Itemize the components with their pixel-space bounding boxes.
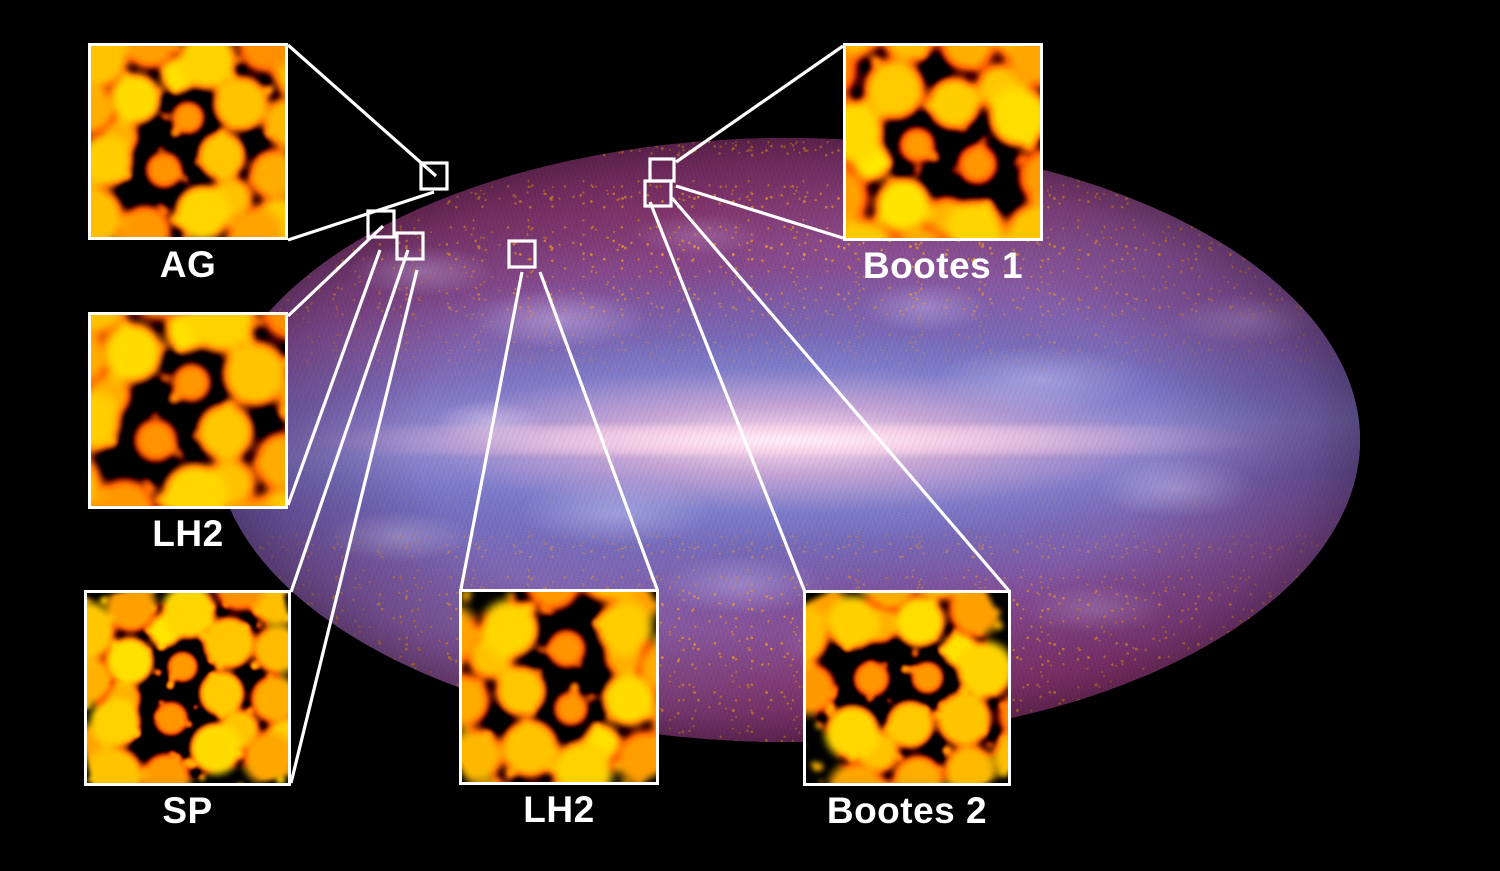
- figure-root: AG LH2 SP LH2 Bootes 1 Bootes 2: [0, 0, 1500, 871]
- inset-frame-lh2-left: [88, 312, 288, 509]
- inset-frame-sp: [84, 590, 291, 786]
- cmb-patch-bootes2: [803, 590, 1011, 786]
- inset-frame-ag: [88, 43, 288, 240]
- cmb-patch-lh2-mid: [459, 589, 659, 785]
- cmb-fine-sp: [84, 590, 291, 786]
- all-sky-map: [215, 138, 1360, 742]
- cmb-fine-lh2-left: [88, 312, 288, 509]
- cmb-fine-lh2-mid: [459, 589, 659, 785]
- inset-label-ag: AG: [88, 246, 288, 285]
- cmb-fine-bootes1: [843, 43, 1043, 241]
- cmb-patch-ag: [91, 46, 285, 237]
- inset-ag[interactable]: AG: [88, 43, 288, 285]
- inset-lh2-left[interactable]: LH2: [88, 312, 288, 554]
- inset-label-bootes1: Bootes 1: [843, 247, 1043, 286]
- inset-label-lh2-left: LH2: [88, 515, 288, 554]
- sky-limb-shading: [215, 138, 1360, 742]
- inset-lh2-mid[interactable]: LH2: [459, 589, 659, 830]
- cmb-patch-bootes1: [843, 43, 1043, 241]
- cmb-patch-lh2-left: [88, 312, 288, 509]
- inset-label-sp: SP: [84, 792, 291, 831]
- inset-label-lh2-mid: LH2: [459, 791, 659, 830]
- inset-frame-bootes2: [803, 590, 1011, 786]
- inset-sp[interactable]: SP: [84, 590, 291, 831]
- cmb-fine-ag: [88, 43, 288, 240]
- inset-frame-lh2-mid: [459, 589, 659, 785]
- inset-frame-bootes1: [843, 43, 1043, 241]
- cmb-fine-bootes2: [803, 590, 1011, 786]
- inset-bootes2[interactable]: Bootes 2: [803, 590, 1011, 831]
- cmb-patch-sp: [84, 590, 291, 786]
- inset-bootes1[interactable]: Bootes 1: [843, 43, 1043, 286]
- inset-label-bootes2: Bootes 2: [803, 792, 1011, 831]
